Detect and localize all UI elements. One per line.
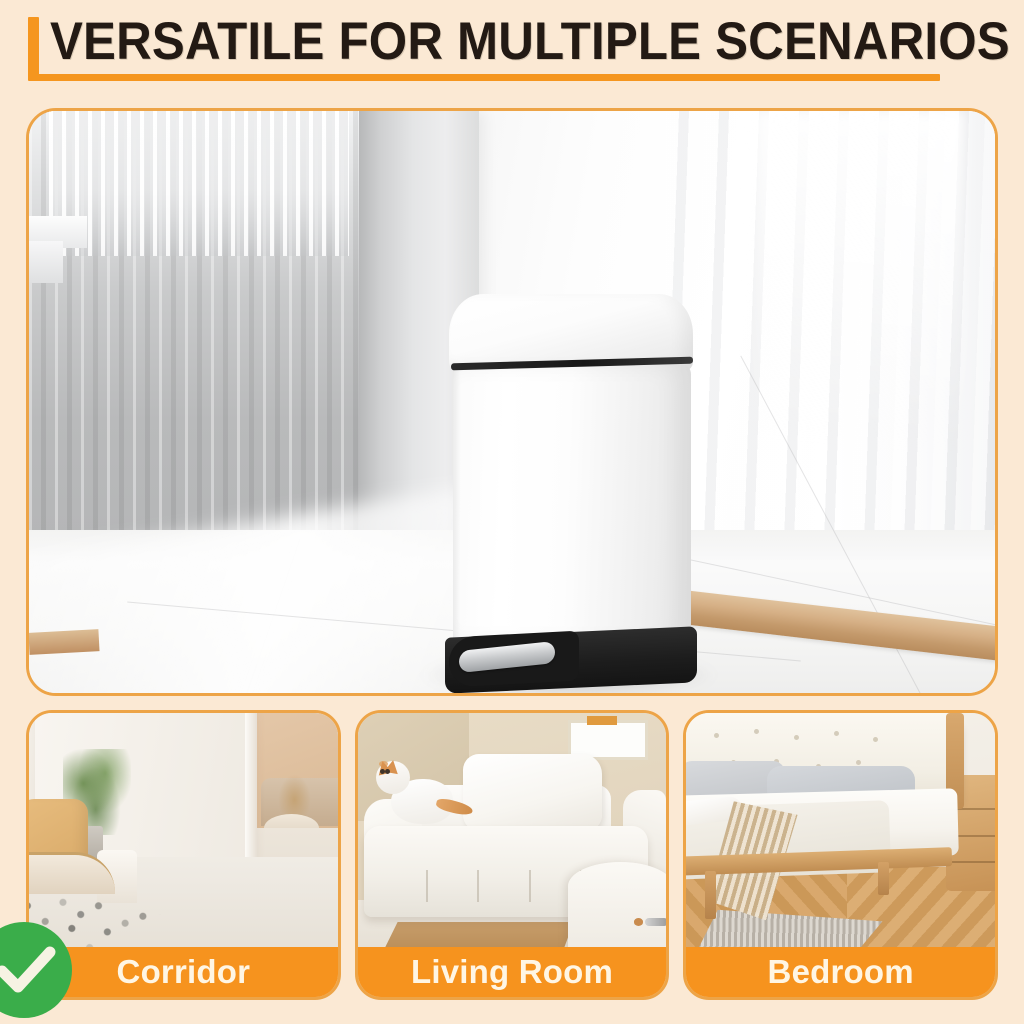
- bedroom-photo: [686, 713, 995, 953]
- bed-leg-left: [705, 871, 716, 919]
- hero-baseboard-left: [29, 629, 100, 655]
- marketing-page: VERSATILE FOR MULTIPLE SCENARIOS: [0, 0, 1024, 1024]
- corridor-photo: [29, 713, 338, 953]
- accent-bracket-underline: [28, 74, 940, 81]
- product-trash-can: [441, 294, 699, 693]
- page-header: VERSATILE FOR MULTIPLE SCENARIOS: [0, 0, 1024, 100]
- living-room-side-table: [568, 862, 667, 953]
- living-room-cat: [376, 756, 456, 828]
- bedroom-label: Bedroom: [686, 947, 995, 997]
- living-room-label: Living Room: [358, 947, 667, 997]
- accent-bracket-vertical: [28, 17, 39, 80]
- check-icon: [0, 946, 56, 994]
- trash-can-body: [453, 364, 691, 644]
- cat-head: [376, 761, 410, 794]
- sofa-cushion-pillow: [463, 754, 602, 831]
- side-table-ball: [634, 918, 643, 926]
- corridor-dried-flowers: [276, 771, 313, 819]
- hero-window-sill-lower: [29, 241, 63, 283]
- cat-eye-right: [385, 769, 390, 774]
- trash-can-body-edge: [453, 364, 461, 644]
- scenario-card-list: Corridor: [26, 710, 998, 1000]
- hero-sunlight: [755, 111, 965, 565]
- hero-image-frame: [26, 108, 998, 696]
- cat-eye-left: [380, 769, 385, 774]
- corridor-label: Corridor: [29, 947, 338, 997]
- side-table-object: [645, 918, 666, 926]
- living-room-photo: [358, 713, 667, 953]
- scenario-card-corridor[interactable]: Corridor: [26, 710, 341, 1000]
- page-title: VERSATILE FOR MULTIPLE SCENARIOS: [50, 12, 887, 72]
- hero-scene: [29, 111, 995, 693]
- bed-leg-right: [878, 862, 889, 896]
- scenario-card-living-room[interactable]: Living Room: [355, 710, 670, 1000]
- corridor-door-frame: [245, 713, 257, 876]
- hero-sheer-curtain-top: [49, 111, 349, 256]
- scenario-card-bedroom[interactable]: Bedroom: [683, 710, 998, 1000]
